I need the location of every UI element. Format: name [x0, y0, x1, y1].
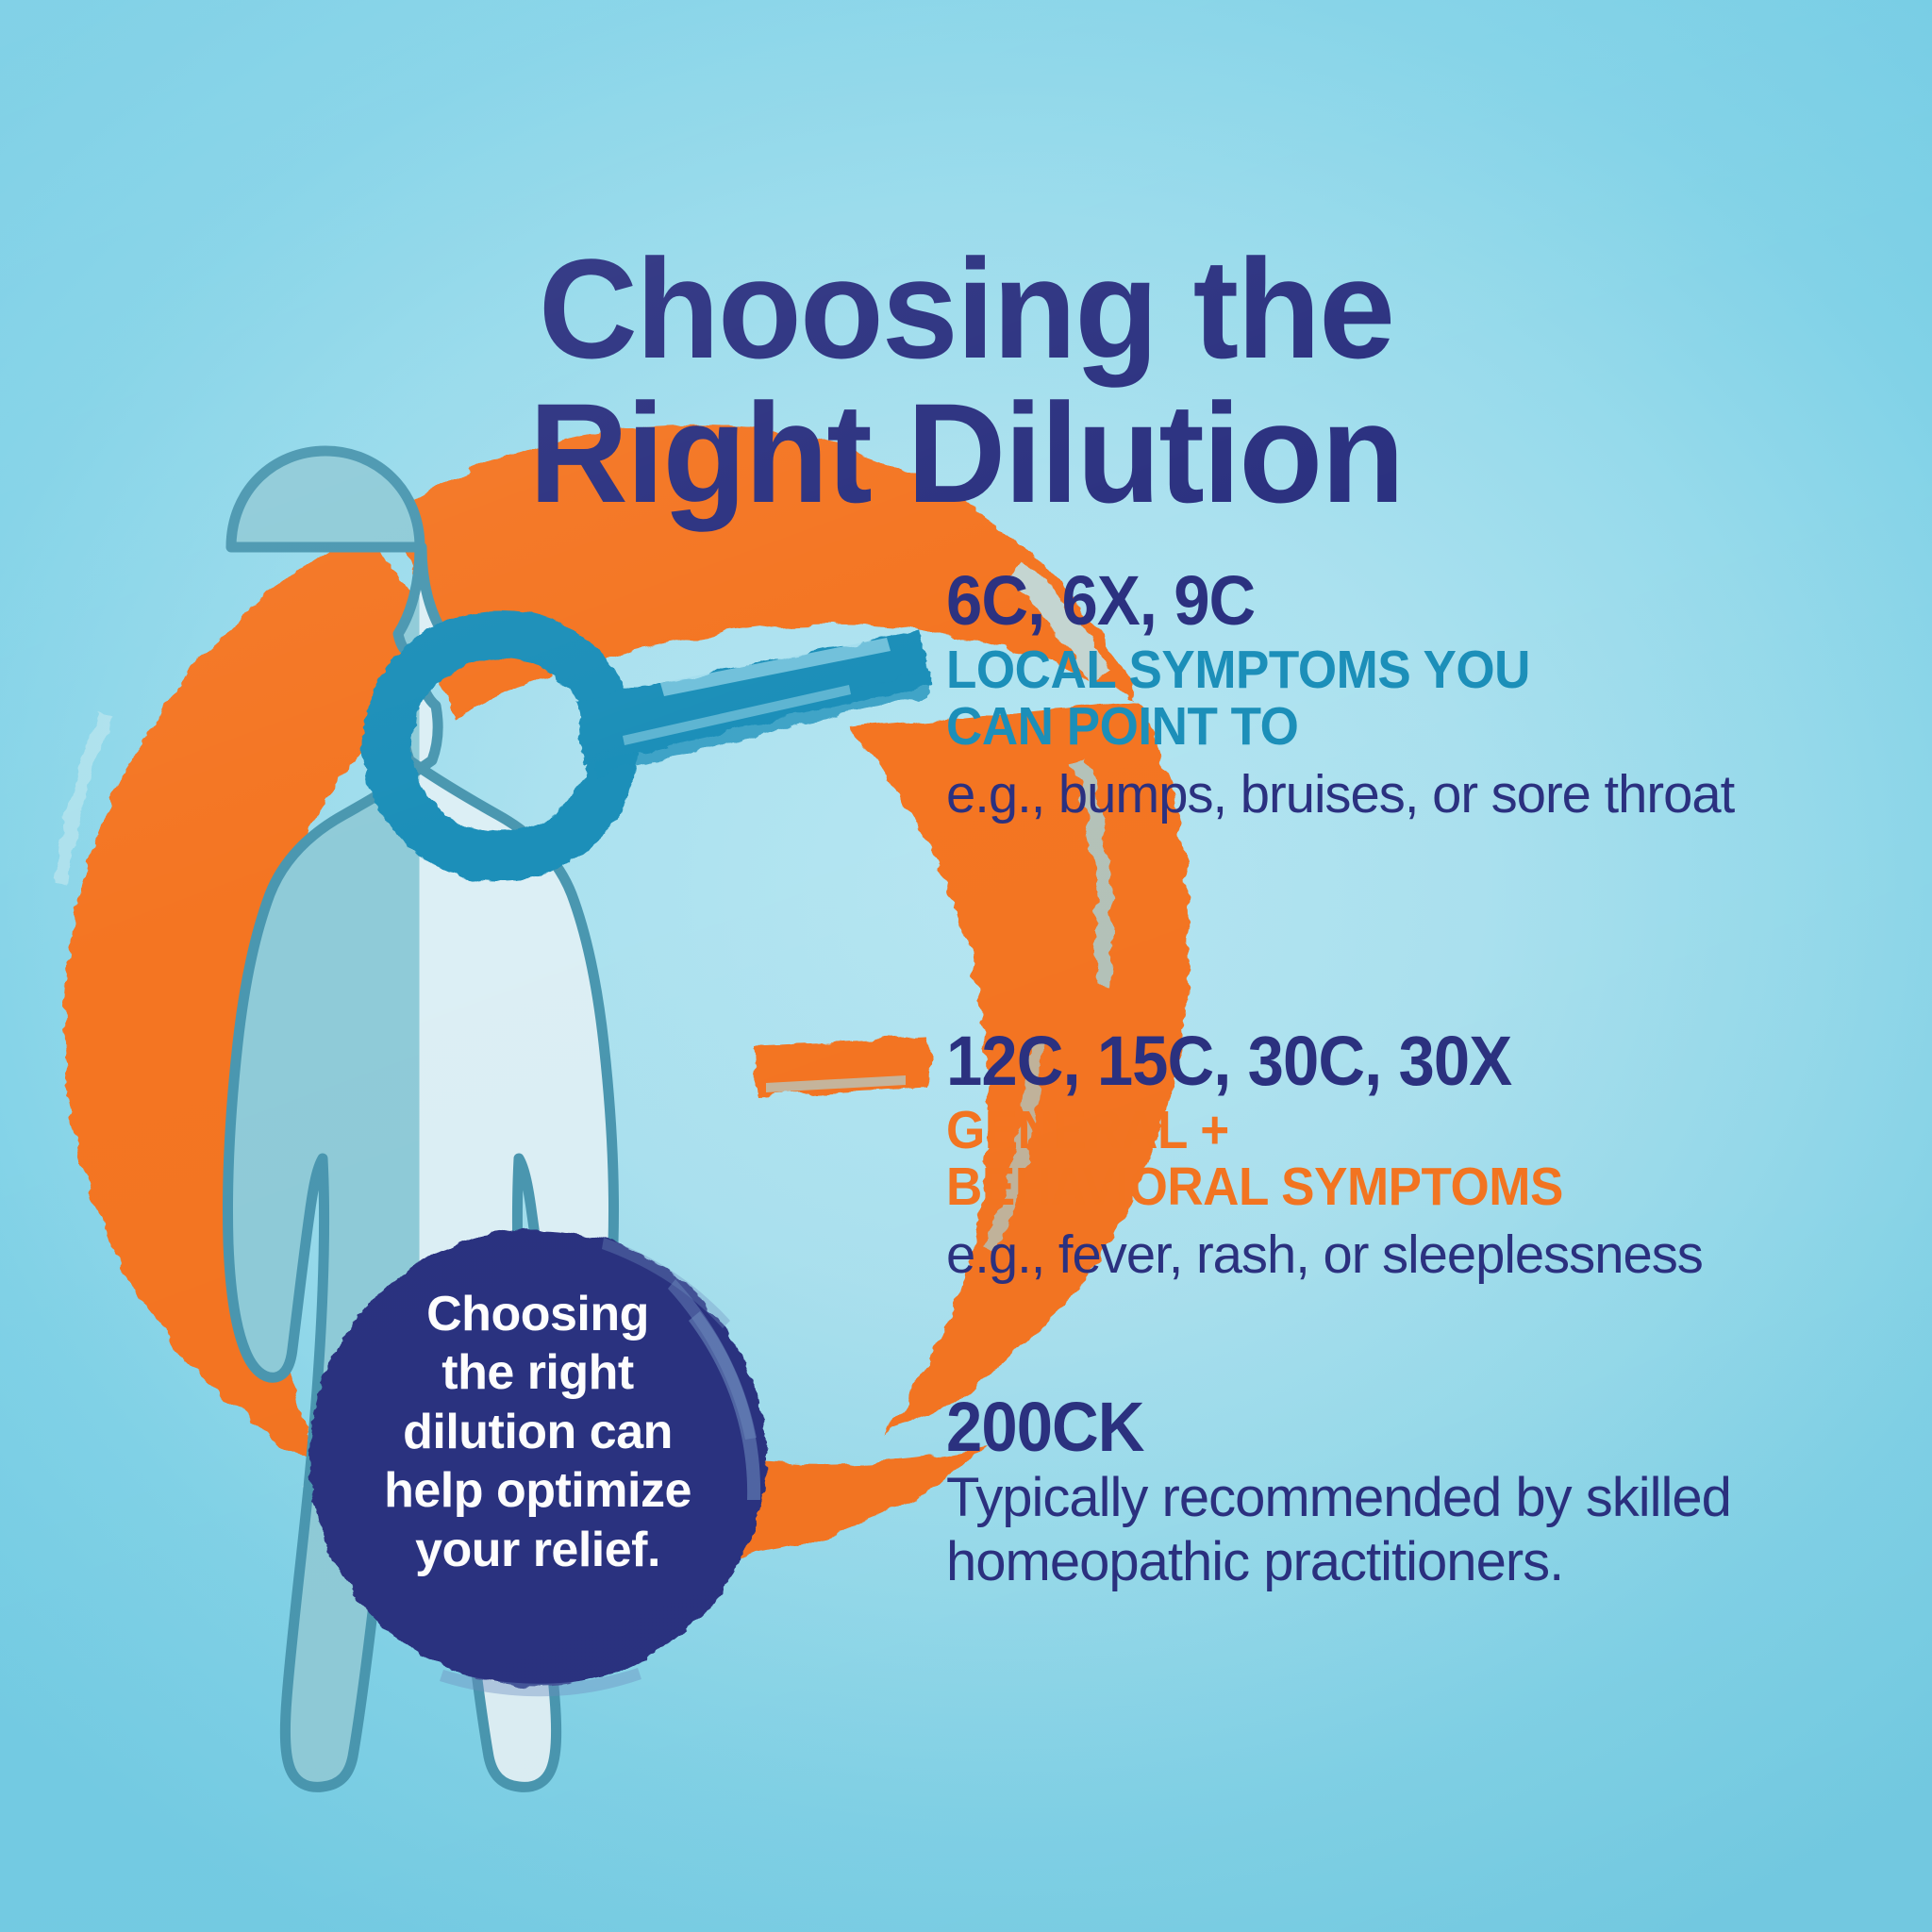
category-line-2a: GENERAL +	[946, 1100, 1229, 1160]
example-text-1: e.g., bumps, bruises, or sore throat	[946, 765, 1875, 824]
dilution-block-1: 6C, 6X, 9C LOCAL SYMPTOMS YOU CAN POINT …	[946, 566, 1890, 824]
infographic-canvas: Choosing the Right Dilution Choosing the…	[0, 0, 1932, 1932]
badge-line-3: help optimize	[384, 1463, 691, 1518]
description-text-3: Typically recommended by skilled homeopa…	[946, 1466, 1890, 1595]
badge-text: Choosing the right dilution can help opt…	[364, 1285, 711, 1579]
dilution-block-2: 12C, 15C, 30C, 30X GENERAL + BEHAVIORAL …	[946, 1026, 1890, 1285]
badge-line-2: dilution can	[403, 1405, 673, 1459]
description-line-3a: Typically recommended by skilled	[946, 1467, 1731, 1528]
title-line-1: Choosing the	[539, 229, 1393, 388]
title-line-2: Right Dilution	[29, 381, 1904, 525]
category-line-1b: CAN POINT TO	[946, 696, 1298, 757]
dilution-label-3: 200CK	[946, 1392, 1824, 1462]
category-label-1: LOCAL SYMPTOMS YOU CAN POINT TO	[946, 641, 1824, 756]
description-line-3b: homeopathic practitioners.	[946, 1531, 1563, 1592]
category-line-2b: BEHAVIORAL SYMPTOMS	[946, 1157, 1563, 1217]
badge-line-0: Choosing	[426, 1287, 649, 1341]
dilution-label-1: 6C, 6X, 9C	[946, 566, 1824, 636]
category-line-1a: LOCAL SYMPTOMS YOU	[946, 640, 1530, 700]
example-text-2: e.g., fever, rash, or sleeplessness	[946, 1225, 1875, 1285]
page-title: Choosing the Right Dilution	[29, 237, 1904, 525]
badge-line-1: the right	[441, 1345, 633, 1400]
category-label-2: GENERAL + BEHAVIORAL SYMPTOMS	[946, 1102, 1824, 1216]
dilution-block-3: 200CK Typically recommended by skilled h…	[946, 1392, 1890, 1595]
badge-line-4: your relief.	[415, 1523, 660, 1577]
dilution-label-2: 12C, 15C, 30C, 30X	[946, 1026, 1824, 1096]
